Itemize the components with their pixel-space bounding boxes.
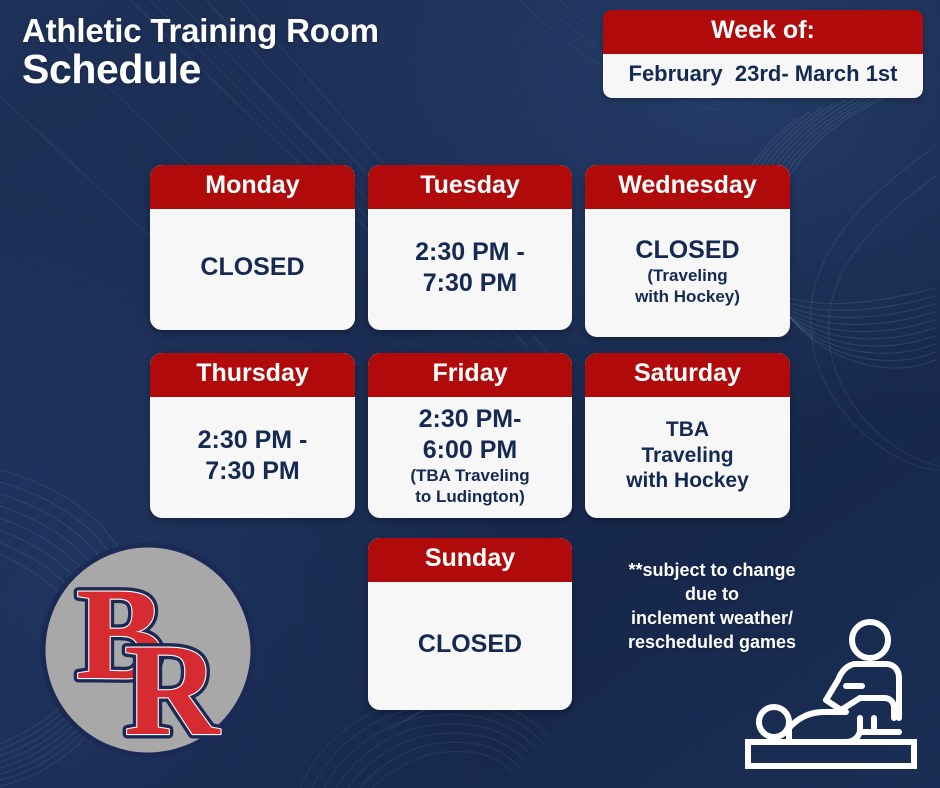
title-line-primary: Athletic Training Room [22,14,379,47]
day-card-thursday: Thursday 2:30 PM - 7:30 PM [150,353,355,518]
day-card-header: Saturday [585,353,790,397]
athletic-training-table-icon [742,612,922,772]
title-line-secondary: Schedule [22,49,379,90]
svg-text:R: R [124,616,221,758]
day-card-header: Tuesday [368,165,572,209]
day-card-tuesday: Tuesday 2:30 PM - 7:30 PM [368,165,572,330]
day-card-header: Friday [368,353,572,397]
day-card-monday: Monday CLOSED [150,165,355,330]
day-card-body: CLOSED [368,582,572,710]
day-card-header: Thursday [150,353,355,397]
day-card-saturday: Saturday TBA Traveling with Hockey [585,353,790,518]
day-card-hours: TBA Traveling with Hockey [626,417,749,494]
day-card-note: (Traveling with Hockey) [635,266,740,307]
day-card-wednesday: Wednesday CLOSED (Traveling with Hockey) [585,165,790,337]
day-card-body: CLOSED (Traveling with Hockey) [585,209,790,337]
day-card-body: 2:30 PM- 6:00 PM (TBA Traveling to Ludin… [368,397,572,518]
week-of-label: Week of: [603,10,923,54]
week-of-banner: Week of: February 23rd- March 1st [603,10,923,98]
page-title: Athletic Training Room Schedule [22,14,379,90]
day-card-friday: Friday 2:30 PM- 6:00 PM (TBA Traveling t… [368,353,572,518]
schedule-poster: Athletic Training Room Schedule Week of:… [0,0,940,788]
day-card-body: CLOSED [150,209,355,330]
day-card-hours: 2:30 PM- 6:00 PM [419,404,522,465]
day-card-body: 2:30 PM - 7:30 PM [150,397,355,518]
day-card-header: Monday [150,165,355,209]
school-logo: B B R R [40,542,256,758]
day-card-hours: CLOSED [200,252,304,283]
day-card-sunday: Sunday CLOSED [368,538,572,710]
training-table-icon-wrap [742,612,922,772]
day-card-hours: 2:30 PM - 7:30 PM [198,425,308,486]
day-card-header: Wednesday [585,165,790,209]
day-card-hours: 2:30 PM - 7:30 PM [415,237,525,298]
day-card-note: (TBA Traveling to Ludington) [410,466,529,507]
day-card-body: TBA Traveling with Hockey [585,397,790,518]
day-card-body: 2:30 PM - 7:30 PM [368,209,572,330]
day-card-hours: CLOSED [635,235,739,266]
day-card-header: Sunday [368,538,572,582]
logo-letter-r: R R [124,616,221,758]
week-of-range: February 23rd- March 1st [603,54,923,98]
day-card-hours: CLOSED [418,629,522,660]
br-logo-graphic: B B R R [40,542,256,758]
